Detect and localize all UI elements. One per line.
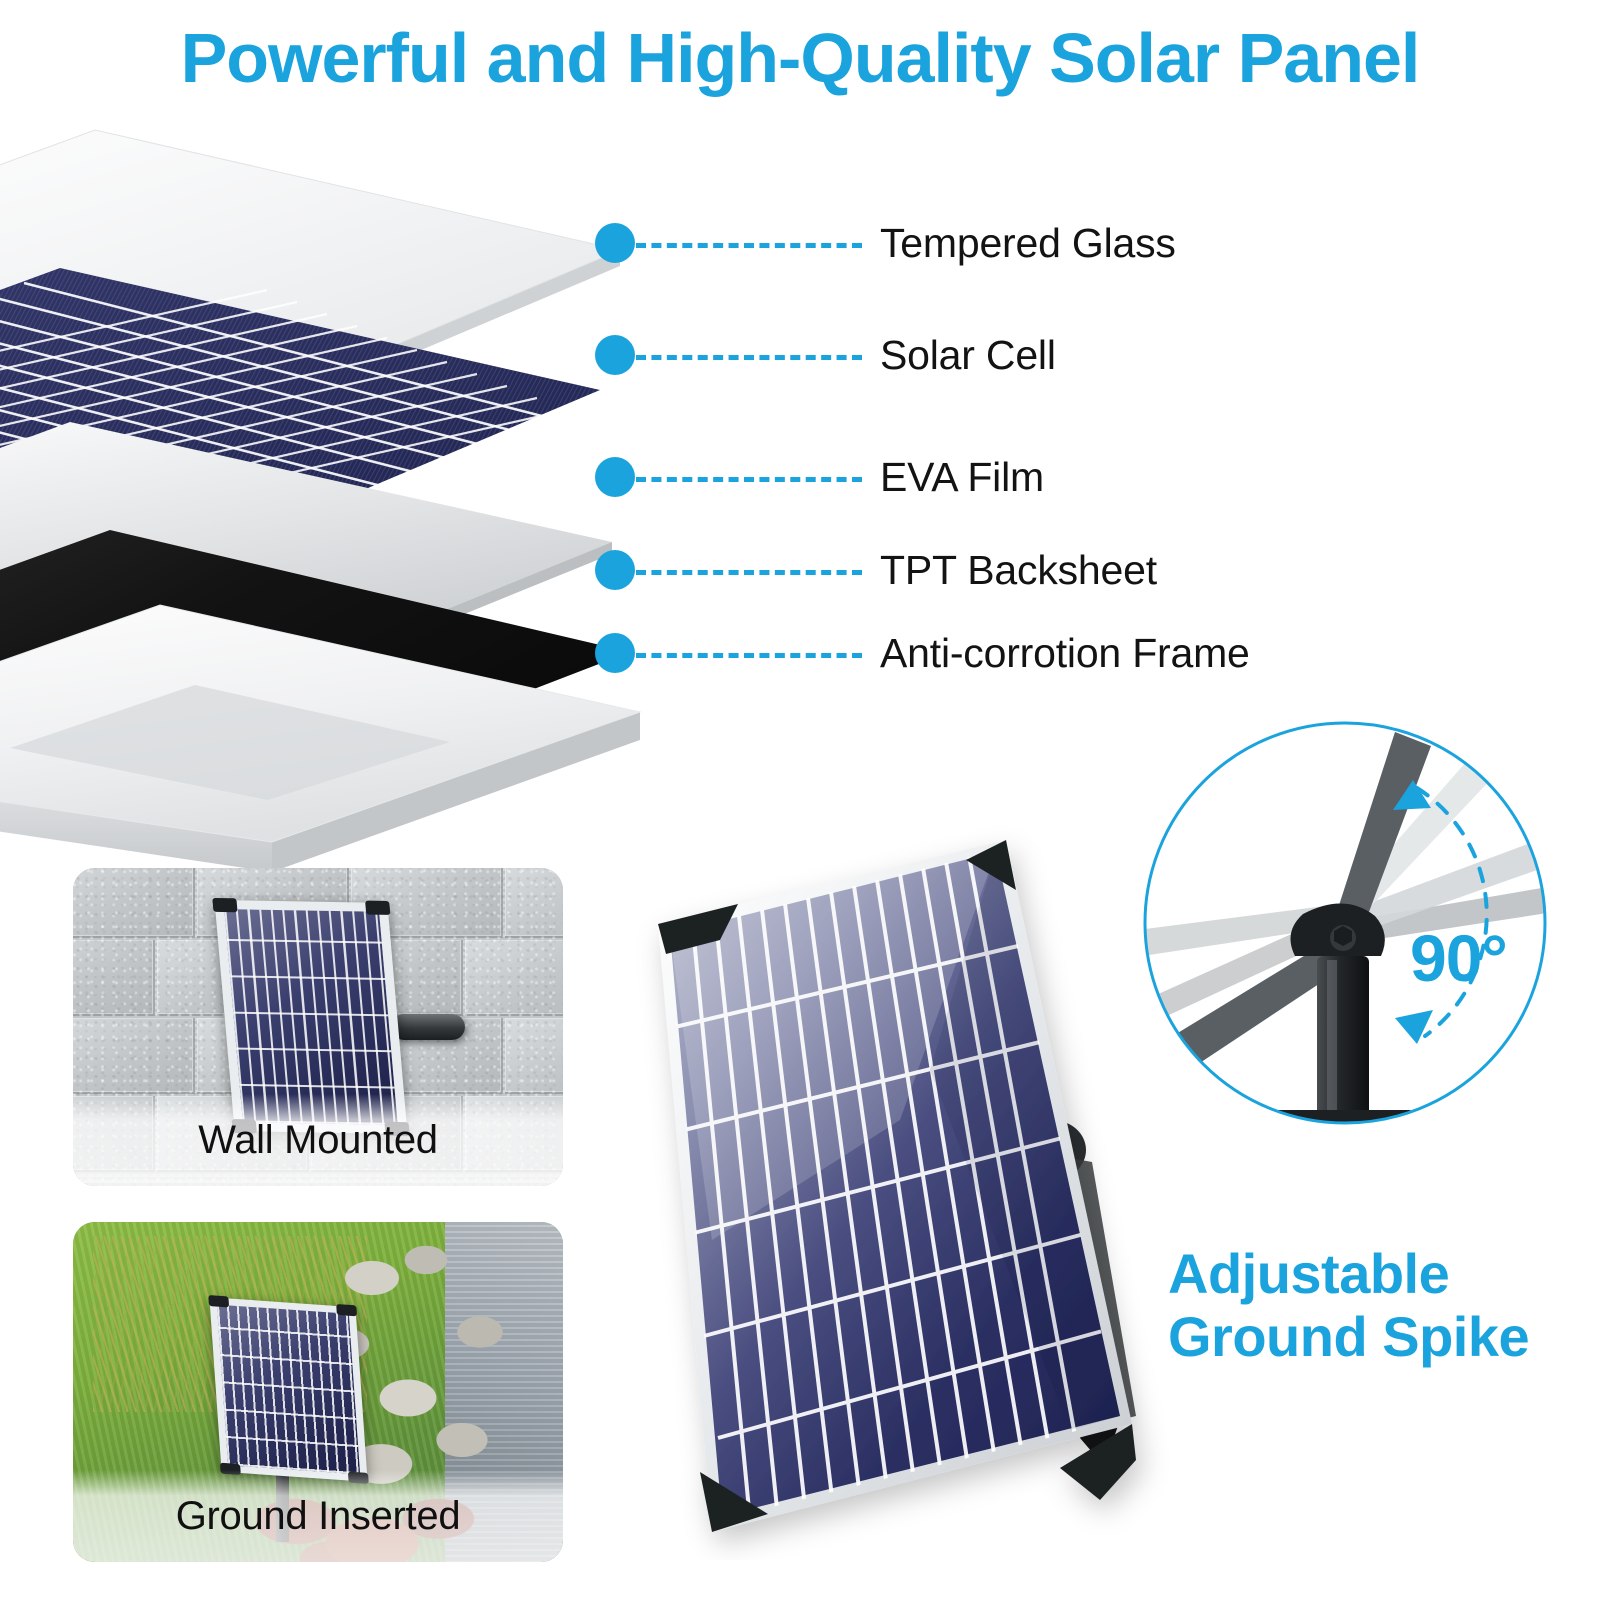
bullet-dot-icon [595, 550, 635, 590]
bullet-dot-icon [595, 457, 635, 497]
arc-arrow-head [1395, 1010, 1433, 1044]
callout-label: Solar Cell [880, 332, 1056, 379]
bullet-dot-icon [595, 633, 635, 673]
callout-label: Anti-corrotion Frame [880, 630, 1250, 677]
support-post [1317, 956, 1369, 1116]
bullet-dot-icon [595, 223, 635, 263]
panel-edge [1095, 844, 1137, 1070]
exploded-panel-diagram [0, 100, 720, 900]
leader-line [636, 243, 862, 248]
infographic-canvas: Powerful and High-Quality Solar Panel [0, 0, 1600, 1600]
callout-label: Tempered Glass [880, 220, 1176, 267]
panel-body [658, 840, 1136, 1532]
card-wall-mounted[interactable]: Wall Mounted [73, 868, 563, 1186]
page-title: Powerful and High-Quality Solar Panel [0, 22, 1600, 96]
callout-label: EVA Film [880, 454, 1044, 501]
card-caption: Ground Inserted [73, 1470, 563, 1562]
adjustable-ground-spike-label: Adjustable Ground Spike [1168, 1243, 1529, 1368]
card-caption: Wall Mounted [73, 1094, 563, 1186]
leader-line [636, 653, 862, 658]
leader-line [636, 570, 862, 575]
leader-line [636, 355, 862, 360]
callout-label: TPT Backsheet [880, 547, 1157, 594]
leader-line [636, 477, 862, 482]
mini-solar-panel [209, 1297, 367, 1482]
bullet-dot-icon [595, 335, 635, 375]
angle-value: 90° [1410, 920, 1507, 996]
card-ground-inserted[interactable]: Ground Inserted [73, 1222, 563, 1562]
wall-mount-arm [391, 1014, 465, 1040]
angle-detail-inset [1095, 718, 1595, 1168]
